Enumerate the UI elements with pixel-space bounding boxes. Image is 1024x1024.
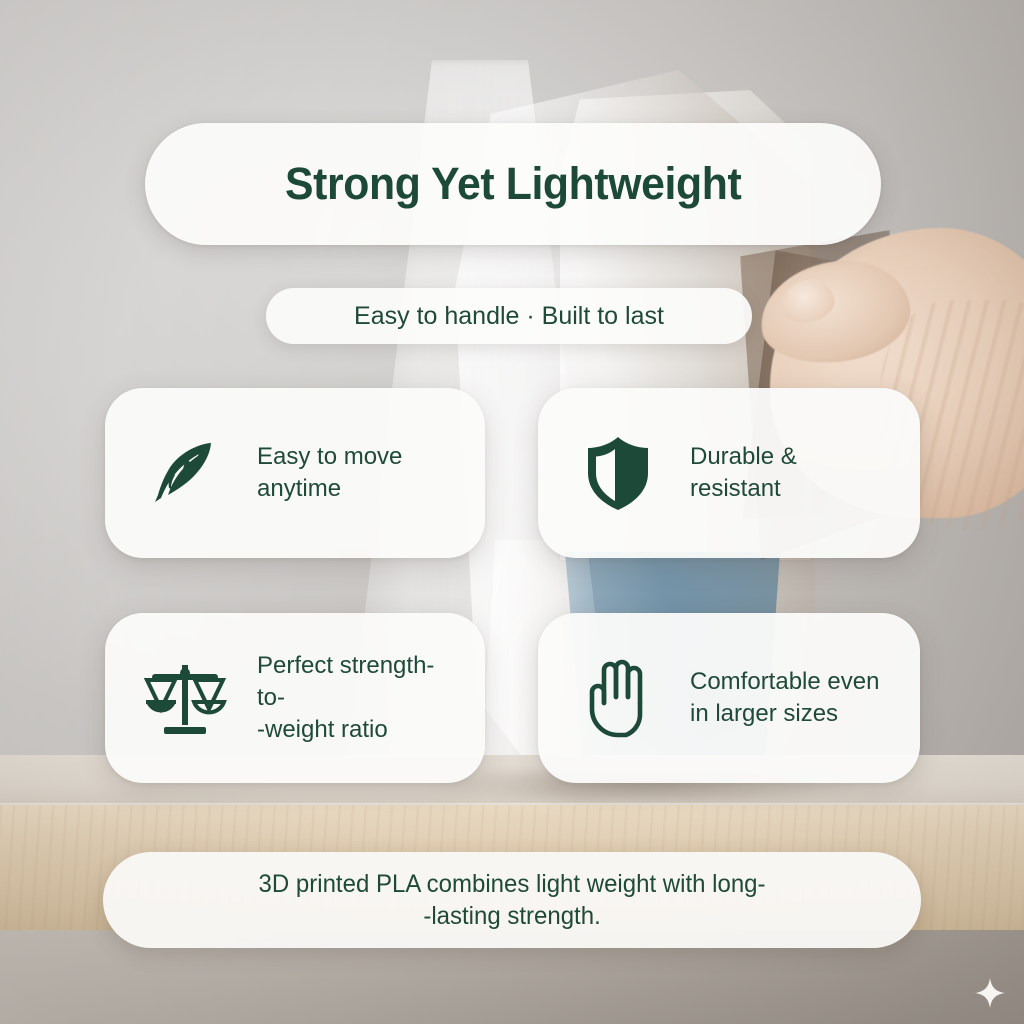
overlay-layer: Strong Yet Lightweight Easy to handle · … [0, 0, 1024, 1024]
shield-icon [572, 427, 664, 519]
footer-text-line1: 3D printed PLA combines light weight wit… [259, 868, 766, 901]
hand-icon [572, 652, 664, 744]
subtitle-pill: Easy to handle · Built to last [266, 288, 752, 344]
feature-label-line2: anytime [257, 473, 402, 505]
feature-label-line1: Perfect strength-to- [257, 650, 459, 713]
footer-text: 3D printed PLA combines light weight wit… [220, 868, 804, 933]
feature-card-easy-to-move[interactable]: Easy to move anytime [105, 388, 485, 558]
feature-label: Perfect strength-to- -weight ratio [257, 650, 459, 745]
sparkle-icon [975, 978, 1005, 1008]
page-subtitle: Easy to handle · Built to last [354, 302, 664, 331]
feature-label-line1: Durable & [690, 441, 797, 473]
feature-card-strength-to-weight[interactable]: Perfect strength-to- -weight ratio [105, 613, 485, 783]
page-title: Strong Yet Lightweight [285, 158, 741, 210]
feature-label: Easy to move anytime [257, 441, 402, 504]
title-pill: Strong Yet Lightweight [145, 123, 881, 245]
footer-text-line2: -lasting strength. [259, 900, 766, 933]
feature-label-line2: in larger sizes [690, 698, 879, 730]
feature-label-line1: Easy to move [257, 441, 402, 473]
feather-icon [139, 427, 231, 519]
feature-card-comfortable[interactable]: Comfortable even in larger sizes [538, 613, 920, 783]
feature-label: Durable & resistant [690, 441, 797, 504]
feature-label-line1: Comfortable even [690, 666, 879, 698]
feature-label-line2: -weight ratio [257, 714, 459, 746]
footer-pill: 3D printed PLA combines light weight wit… [103, 852, 921, 948]
feature-card-durable[interactable]: Durable & resistant [538, 388, 920, 558]
feature-label: Comfortable even in larger sizes [690, 666, 879, 729]
feature-label-line2: resistant [690, 473, 797, 505]
balance-scale-icon [139, 652, 231, 744]
